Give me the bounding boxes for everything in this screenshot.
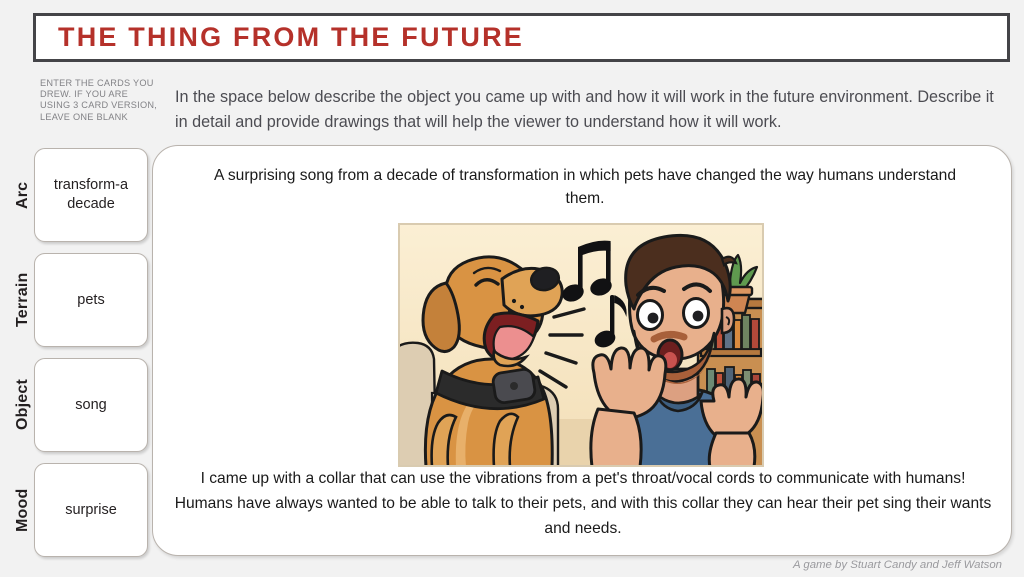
card-value-object: song <box>75 396 106 415</box>
card-slot-mood[interactable]: Mood surprise <box>12 463 152 557</box>
card-box-mood[interactable]: surprise <box>34 463 148 557</box>
card-box-object[interactable]: song <box>34 358 148 452</box>
card-slot-arc[interactable]: Arc transform-a decade <box>12 148 152 242</box>
credit-text: A game by Stuart Candy and Jeff Watson <box>793 559 1002 571</box>
card-box-terrain[interactable]: pets <box>34 253 148 347</box>
title-box: The Thing From The Future <box>33 13 1010 62</box>
caption-bottom-text: I came up with a collar that can use the… <box>173 466 993 541</box>
card-column: Arc transform-a decade Terrain pets Obje… <box>12 148 152 556</box>
page-title: The Thing From The Future <box>58 22 524 53</box>
sidebar-instruction-text: ENTER THE CARDS YOU DREW. IF YOU ARE USI… <box>40 78 158 123</box>
card-label-mood: Mood <box>12 463 34 557</box>
answer-panel[interactable]: A surprising song from a decade of trans… <box>152 145 1012 556</box>
card-value-terrain: pets <box>77 291 104 310</box>
card-label-object: Object <box>12 358 34 452</box>
card-value-arc: transform-a decade <box>42 176 140 214</box>
illustration-image <box>398 223 764 467</box>
card-slot-object[interactable]: Object song <box>12 358 152 452</box>
card-label-arc: Arc <box>12 148 34 242</box>
slide-canvas: The Thing From The Future ENTER THE CARD… <box>0 0 1024 577</box>
card-slot-terrain[interactable]: Terrain pets <box>12 253 152 347</box>
caption-top-text: A surprising song from a decade of trans… <box>201 164 969 210</box>
card-label-terrain: Terrain <box>12 253 34 347</box>
card-value-mood: surprise <box>65 501 117 520</box>
instructions-text: In the space below describe the object y… <box>175 85 1005 135</box>
card-box-arc[interactable]: transform-a decade <box>34 148 148 242</box>
